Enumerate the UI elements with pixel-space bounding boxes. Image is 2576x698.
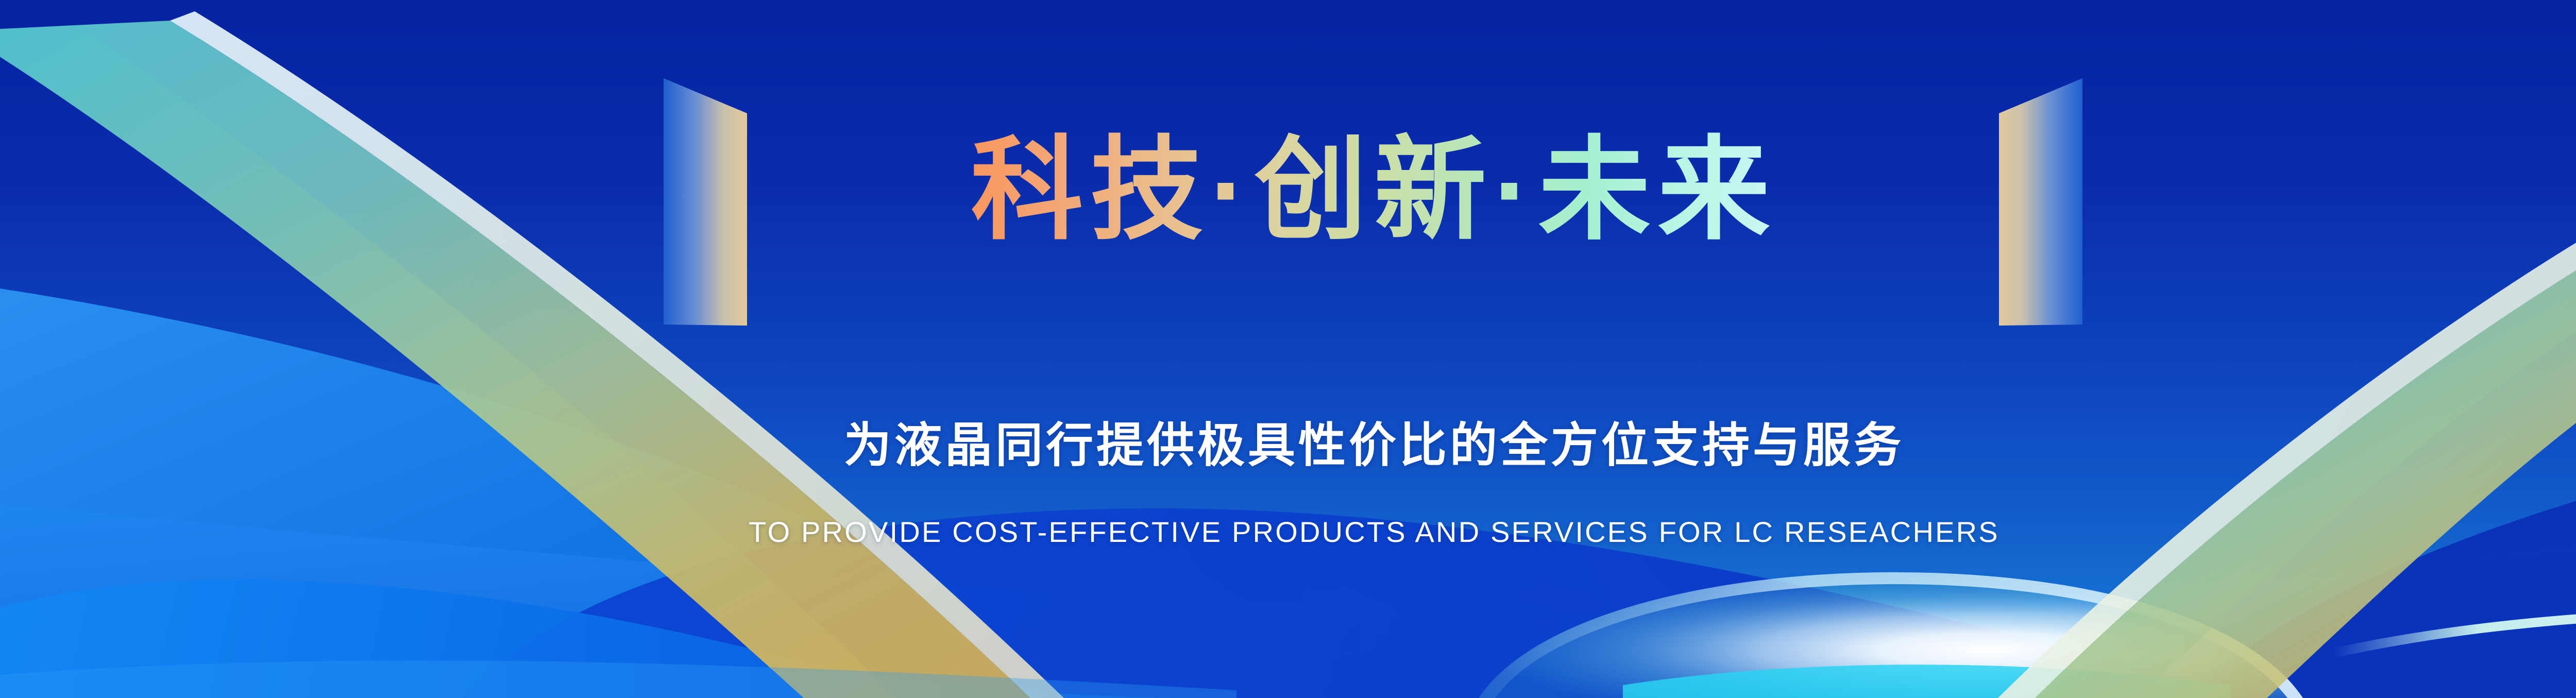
banner-root: 科技·创新·未来 为液晶同行提供极具性价比的全方位支持与服务 TO PROVID… — [0, 0, 2576, 698]
subtitle-chinese: 为液晶同行提供极具性价比的全方位支持与服务 — [0, 407, 2576, 475]
background-artwork — [0, 0, 2576, 698]
decorative-bracket-left — [644, 68, 799, 336]
subtitle-english: TO PROVIDE COST-EFFECTIVE PRODUCTS AND S… — [0, 515, 2576, 549]
decorative-bracket-right — [1947, 68, 2102, 336]
